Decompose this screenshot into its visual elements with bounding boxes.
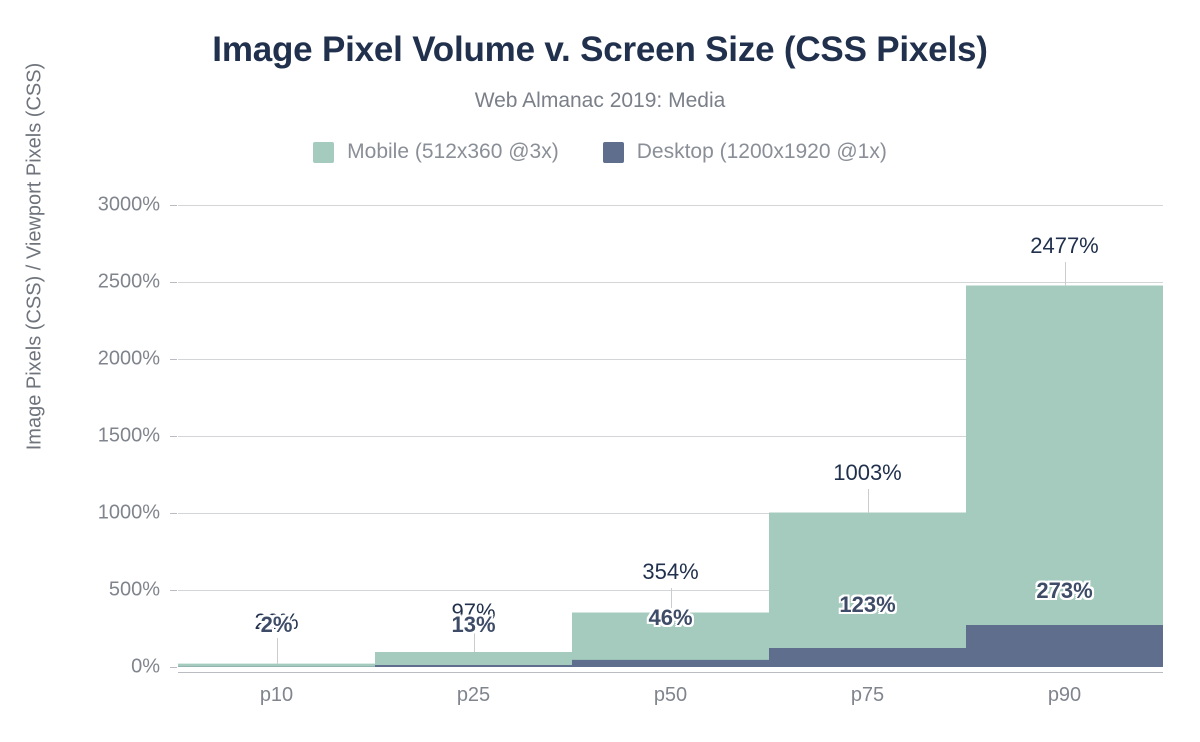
- series-svg: [0, 0, 1200, 742]
- label-connector: [671, 588, 672, 612]
- chart-figure: Image Pixel Volume v. Screen Size (CSS P…: [0, 0, 1200, 742]
- label-connector: [474, 628, 475, 652]
- label-connector: [277, 638, 278, 664]
- label-connector: [1065, 262, 1066, 286]
- plot-area: Image Pixels (CSS) / Viewport Pixels (CS…: [0, 0, 1200, 742]
- label-connector: [868, 489, 869, 513]
